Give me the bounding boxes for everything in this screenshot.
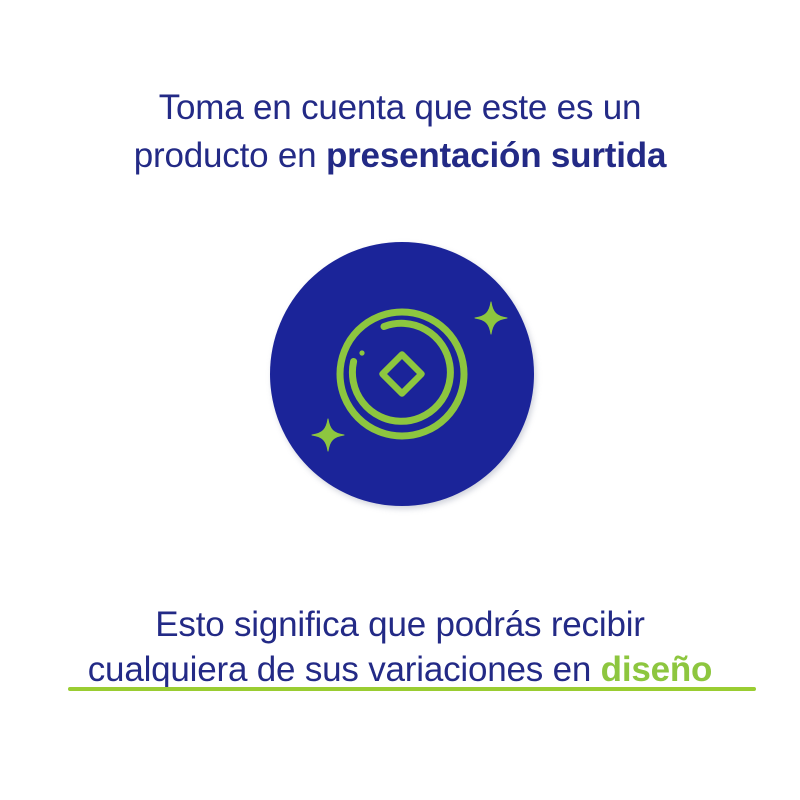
headline-line-2-plain: producto en	[134, 136, 326, 175]
inner-broken-arc	[352, 323, 450, 421]
headline-line-2: producto en presentación surtida	[40, 132, 760, 180]
page-title: Toma en cuenta que este es un producto e…	[0, 84, 800, 180]
subheadline-accent: diseño	[601, 650, 713, 689]
assorted-design-variation-icon	[270, 242, 534, 506]
subheadline-line-2: cualquiera de sus variaciones en diseño	[30, 647, 770, 692]
divider	[68, 687, 756, 691]
headline-line-1: Toma en cuenta que este es un	[40, 84, 760, 132]
subheadline-line-1: Esto significa que podrás recibir	[30, 602, 770, 647]
outer-circle-ring	[340, 312, 464, 436]
headline-emphasis: presentación surtida	[326, 136, 666, 175]
subheadline-line-2-plain: cualquiera de sus variaciones en	[88, 650, 601, 689]
promo-poster: Toma en cuenta que este es un producto e…	[0, 0, 800, 800]
badge-illustration	[268, 240, 540, 516]
sparkle-four-point	[475, 302, 507, 334]
center-diamond	[383, 355, 422, 394]
page-subtitle: Esto significa que podrás recibir cualqu…	[0, 602, 800, 692]
sparkle-four-point	[312, 419, 344, 451]
small-dot	[359, 350, 364, 355]
